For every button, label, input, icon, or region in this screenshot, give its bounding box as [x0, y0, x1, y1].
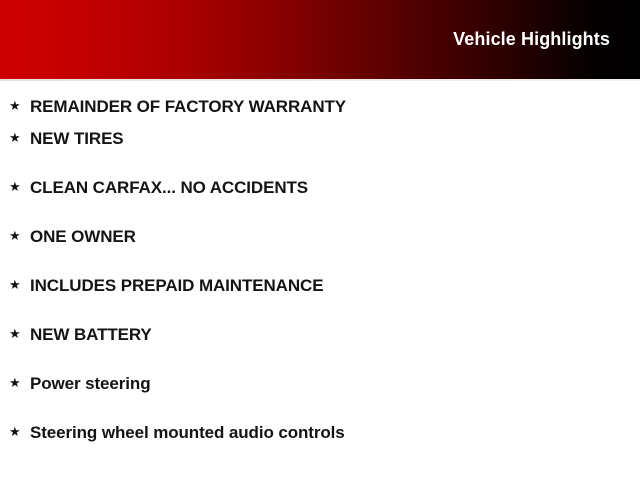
- highlight-label: NEW BATTERY: [30, 326, 640, 343]
- page-title: Vehicle Highlights: [453, 30, 610, 50]
- highlight-label: INCLUDES PREPAID MAINTENANCE: [30, 277, 640, 294]
- star-icon: ★: [9, 376, 30, 389]
- list-item: ★ REMAINDER OF FACTORY WARRANTY: [0, 81, 640, 130]
- list-item: ★ Steering wheel mounted audio controls: [0, 424, 640, 473]
- list-item: ★ NEW TIRES: [0, 130, 640, 179]
- star-icon: ★: [9, 327, 30, 340]
- star-icon: ★: [9, 229, 30, 242]
- star-icon: ★: [9, 425, 30, 438]
- list-item: ★ INCLUDES PREPAID MAINTENANCE: [0, 277, 640, 326]
- star-icon: ★: [9, 99, 30, 112]
- star-icon: ★: [9, 131, 30, 144]
- header-banner: Vehicle Highlights: [0, 0, 640, 79]
- highlight-label: ONE OWNER: [30, 228, 640, 245]
- list-item: ★ NEW BATTERY: [0, 326, 640, 375]
- highlight-label: CLEAN CARFAX... NO ACCIDENTS: [30, 179, 640, 196]
- highlight-label: REMAINDER OF FACTORY WARRANTY: [30, 98, 640, 115]
- highlight-label: Steering wheel mounted audio controls: [30, 424, 640, 441]
- vehicle-highlights-list: ★ REMAINDER OF FACTORY WARRANTY ★ NEW TI…: [0, 81, 640, 473]
- star-icon: ★: [9, 278, 30, 291]
- list-item: ★ Power steering: [0, 375, 640, 424]
- list-item: ★ CLEAN CARFAX... NO ACCIDENTS: [0, 179, 640, 228]
- highlight-label: Power steering: [30, 375, 640, 392]
- highlight-label: NEW TIRES: [30, 130, 640, 147]
- list-item: ★ ONE OWNER: [0, 228, 640, 277]
- star-icon: ★: [9, 180, 30, 193]
- vehicle-highlights-panel: Vehicle Highlights ★ REMAINDER OF FACTOR…: [0, 0, 640, 480]
